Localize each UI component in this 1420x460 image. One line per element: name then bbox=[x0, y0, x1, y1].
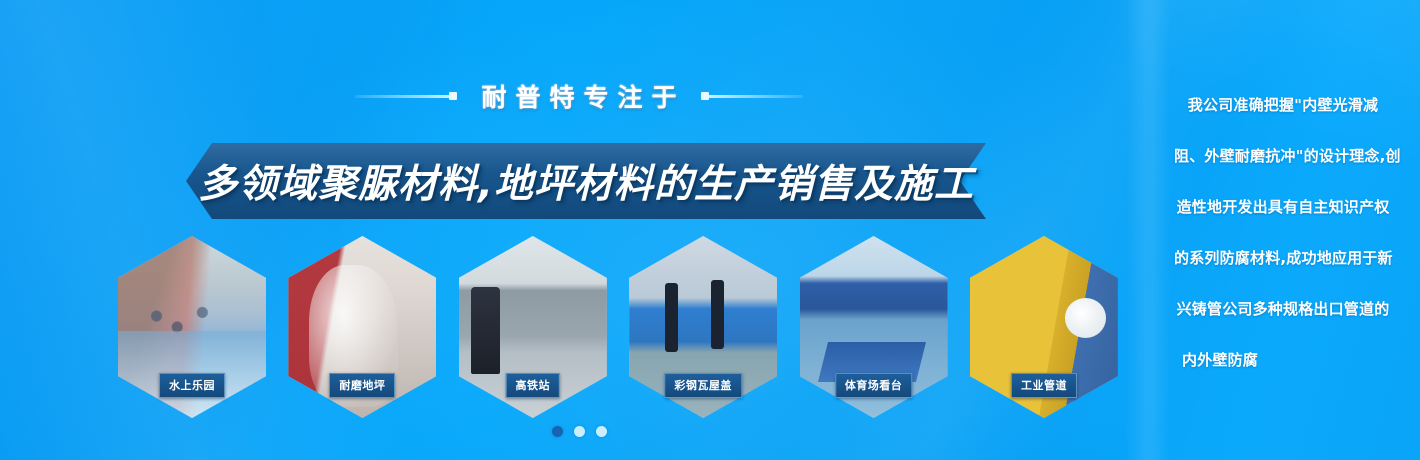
carousel-dot-1[interactable] bbox=[552, 426, 563, 437]
description-column: 我公司准确把握"内壁光滑减 阻、外壁耐磨抗冲"的设计理念,创 造性地开发出具有自… bbox=[1174, 80, 1392, 386]
thumbnail-item[interactable]: 体育场看台 bbox=[800, 236, 948, 418]
carousel-dots bbox=[0, 426, 1158, 437]
headline-text: 多领域聚脲材料,地坪材料的生产销售及施工 bbox=[186, 143, 986, 219]
description-line: 阻、外壁耐磨抗冲"的设计理念,创 bbox=[1174, 131, 1392, 182]
thumbnail-item[interactable]: 耐磨地坪 bbox=[288, 236, 436, 418]
thumbnail-label: 高铁站 bbox=[506, 373, 561, 398]
eyebrow-row: 耐普特专注于 bbox=[0, 78, 1158, 114]
description-line: 内外壁防腐 bbox=[1174, 335, 1392, 386]
thumbnail-item[interactable]: 高铁站 bbox=[459, 236, 607, 418]
description-line: 兴铸管公司多种规格出口管道的 bbox=[1174, 284, 1392, 335]
thumbnail-item[interactable]: 工业管道 bbox=[970, 236, 1118, 418]
description-line: 的系列防腐材料,成功地应用于新 bbox=[1174, 233, 1392, 284]
decorative-line-left bbox=[355, 95, 455, 98]
thumbnail-label: 体育场看台 bbox=[835, 373, 913, 398]
description-line: 造性地开发出具有自主知识产权 bbox=[1174, 182, 1392, 233]
background-vertical-divider bbox=[1126, 0, 1170, 460]
eyebrow-text: 耐普特专注于 bbox=[472, 78, 685, 114]
thumbnail-item[interactable]: 水上乐园 bbox=[118, 236, 266, 418]
carousel-dot-2[interactable] bbox=[574, 426, 585, 437]
decorative-line-right bbox=[703, 95, 803, 98]
thumbnail-item[interactable]: 彩钢瓦屋盖 bbox=[629, 236, 777, 418]
thumbnail-row: 水上乐园 耐磨地坪 高铁站 彩钢瓦屋盖 体育场看台 bbox=[118, 236, 1118, 418]
thumbnail-label: 彩钢瓦屋盖 bbox=[664, 373, 742, 398]
thumbnail-label: 工业管道 bbox=[1011, 373, 1077, 398]
promo-banner: 耐普特专注于 多领域聚脲材料,地坪材料的生产销售及施工 水上乐园 耐磨地坪 高铁… bbox=[0, 0, 1420, 460]
thumbnail-label: 水上乐园 bbox=[159, 373, 225, 398]
headline-banner: 多领域聚脲材料,地坪材料的生产销售及施工 bbox=[186, 143, 986, 219]
carousel-dot-3[interactable] bbox=[596, 426, 607, 437]
description-line: 我公司准确把握"内壁光滑减 bbox=[1174, 80, 1392, 131]
thumbnail-label: 耐磨地坪 bbox=[329, 373, 395, 398]
